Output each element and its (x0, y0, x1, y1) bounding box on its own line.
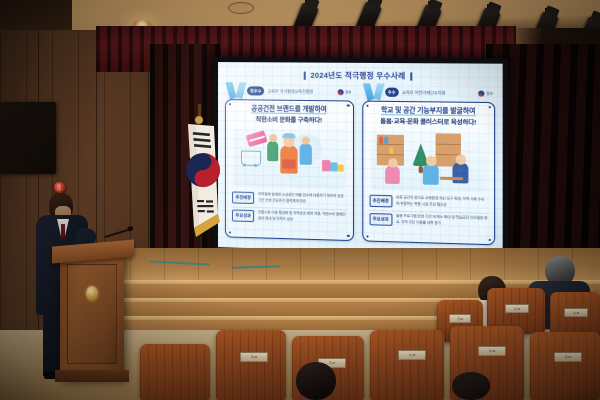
seat-back-r2c3: 나-18 (370, 330, 444, 400)
shopping-bag-blue (330, 162, 337, 171)
audience-head-far-right (452, 372, 490, 400)
seat-back-r2c5: 라-20 (530, 332, 600, 400)
slide-title-row: 2024년도 적극행정 우수사례 (225, 68, 495, 83)
flag-trigram-top (193, 132, 211, 148)
shopping-bag-pink (322, 160, 330, 171)
card-1-gov-mark: 정부 (337, 89, 353, 95)
slide-content: 2024년도 적극행정 우수사례 ★ 최우수 교육부 국가평생교육진흥원 (218, 62, 503, 256)
taegeuk-icon (337, 89, 343, 95)
card-1-row-2-body: 전통시장 이용 활성화 및 지역상권 회복 지원, 착한소비 캠페인 참여 확대… (258, 210, 346, 223)
projection-screen: 2024년도 적극행정 우수사례 ★ 최우수 교육부 국가평생교육진흥원 (213, 57, 508, 262)
ceiling-vent-1 (228, 2, 254, 14)
book-yellow (389, 147, 393, 154)
step-nosing-1 (96, 280, 600, 284)
card-2-gov-text: 정부 (486, 91, 493, 96)
wall-speaker (0, 102, 56, 174)
card-2-badge: 우수 (385, 88, 399, 97)
card-2-headline-1: 학교 및 공간 기능부지를 발굴하여 (368, 107, 489, 118)
cart-wheel (243, 163, 246, 166)
taegeuk-circle (186, 153, 220, 187)
seat-number-plate: 다-15 (240, 352, 268, 362)
card-2-rows: 추진배경 유휴 공간의 증가로 교육환경 개선 요구 확대, 지역 사회 수요에… (368, 192, 489, 231)
card-1-gov-text: 정부 (345, 89, 351, 94)
card-2-row-2-body: 돌봄 프로그램 운영 기관 30개소 확대 및 학습공간 리모델링 완료, 지역… (396, 214, 488, 227)
corner-dot (488, 238, 491, 241)
auditorium-photo: 비상구 2024년도 적극행정 우수사례 (0, 0, 600, 400)
seat-number-plate: 라-20 (554, 352, 582, 362)
desk-icon (439, 176, 462, 180)
flag-finial (195, 116, 203, 124)
card-2-org: 교육부 어린이재단교육원 (402, 89, 446, 96)
slide-cards: ★ 최우수 교육부 국가평생교육진흥원 정부 (225, 84, 495, 250)
cart-wheel (254, 164, 257, 167)
seat-back-r2c0 (140, 344, 210, 400)
card-1-row-2-tag: 주요성과 (232, 210, 255, 223)
card-2-body: 학교 및 공간 기능부지를 발굴하여 돌봄·교육·문화 클러스터로 육성하다! (362, 101, 495, 246)
card-1-rows: 추진배경 지역경제 침체와 소상공인 매출 감소에 대응하기 위하여 공공기관 … (231, 189, 347, 227)
person-orange-hat (282, 133, 295, 138)
shopping-bag-yellow (338, 164, 344, 171)
award-card-1: ★ 최우수 교육부 국가평생교육진흥원 정부 (225, 84, 354, 246)
child-pink (385, 165, 400, 184)
seat-number-plate: 나-16 (564, 308, 588, 317)
stage-floor (96, 248, 600, 282)
card-2-row-2-tag: 주요성과 (369, 213, 392, 226)
card-2-headline-1-text: 학교 및 공간 기능부지를 발굴하여 (381, 107, 475, 117)
card-2-illustration (370, 130, 486, 192)
card-1-row-2: 주요성과 전통시장 이용 활성화 및 지역상권 회복 지원, 착한소비 캠페인 … (231, 206, 347, 227)
podium (60, 252, 124, 380)
tree-trunk (418, 166, 422, 173)
child-blue-head (426, 156, 437, 166)
book-red (378, 136, 382, 143)
screen-surface: 2024년도 적극행정 우수사례 ★ 최우수 교육부 국가평생교육진흥원 (218, 62, 503, 256)
basket-icon (282, 159, 295, 168)
child-navy (452, 162, 468, 183)
podium-base (55, 370, 129, 382)
child-pink-head (388, 158, 397, 167)
card-2-headline-2: 돌봄·교육·문화 클러스터로 육성하다! (368, 118, 489, 128)
card-1-headline-1-text: 공공건전 브랜드를 개발하여 (251, 105, 327, 114)
card-1-row-1-body: 지역경제 침체와 소상공인 매출 감소에 대응하기 위하여 공공기관 연계 전담… (258, 192, 346, 205)
person-green (267, 141, 278, 161)
speaker-tie (61, 224, 65, 239)
card-1-headline-2: 착한소비 문화를 구축하다! (231, 117, 347, 127)
card-1-headline-1: 공공건전 브랜드를 개발하여 (231, 105, 347, 115)
fire-alarm-bell-icon (54, 182, 65, 193)
korean-flag (174, 104, 230, 254)
person-blue (300, 143, 312, 164)
card-1-illustration (233, 128, 345, 189)
title-bar-left (304, 71, 306, 79)
person-blue-head (302, 136, 310, 144)
book-blue (384, 136, 388, 143)
seat-number-plate: 가-11 (449, 314, 471, 323)
card-1-badge: 최우수 (247, 86, 264, 95)
card-1-org: 교육부 국가평생교육진흥원 (267, 88, 313, 95)
seat-back-r2c1: 다-15 (216, 330, 286, 400)
seat-number-plate: 나-12 (505, 304, 529, 313)
seat-number-plate: 다-19 (478, 346, 506, 356)
taegeuk-icon (478, 90, 484, 96)
card-1-row-1-tag: 추진배경 (232, 192, 255, 205)
card-2-row-2: 주요성과 돌봄 프로그램 운영 기관 30개소 확대 및 학습공간 리모델링 완… (368, 210, 489, 232)
card-2-gov-mark: 정부 (478, 90, 495, 96)
card-1-body: 공공건전 브랜드를 개발하여 착한소비 문화를 구축하다! (225, 99, 354, 241)
child-navy-head (455, 154, 466, 165)
card-2-row-1-tag: 추진배경 (369, 195, 392, 208)
award-card-2: ★ 우수 교육부 어린이재단교육원 정부 (362, 85, 495, 250)
slide-title: 2024년도 적극행정 우수사례 (310, 70, 405, 82)
card-2-row-1-body: 유휴 공간의 증가로 교육환경 개선 요구 확대, 지역 사회 수요에 부합하는… (396, 196, 488, 209)
podium-panel (67, 264, 117, 364)
child-blue (422, 164, 438, 185)
corner-dot (347, 234, 349, 237)
audience-head-front (296, 362, 336, 400)
seat-number-plate: 나-18 (398, 350, 426, 360)
podium-emblem-icon (86, 286, 98, 301)
corner-dot (366, 235, 368, 238)
person-green-head (269, 134, 277, 142)
title-bar-right (411, 72, 413, 80)
